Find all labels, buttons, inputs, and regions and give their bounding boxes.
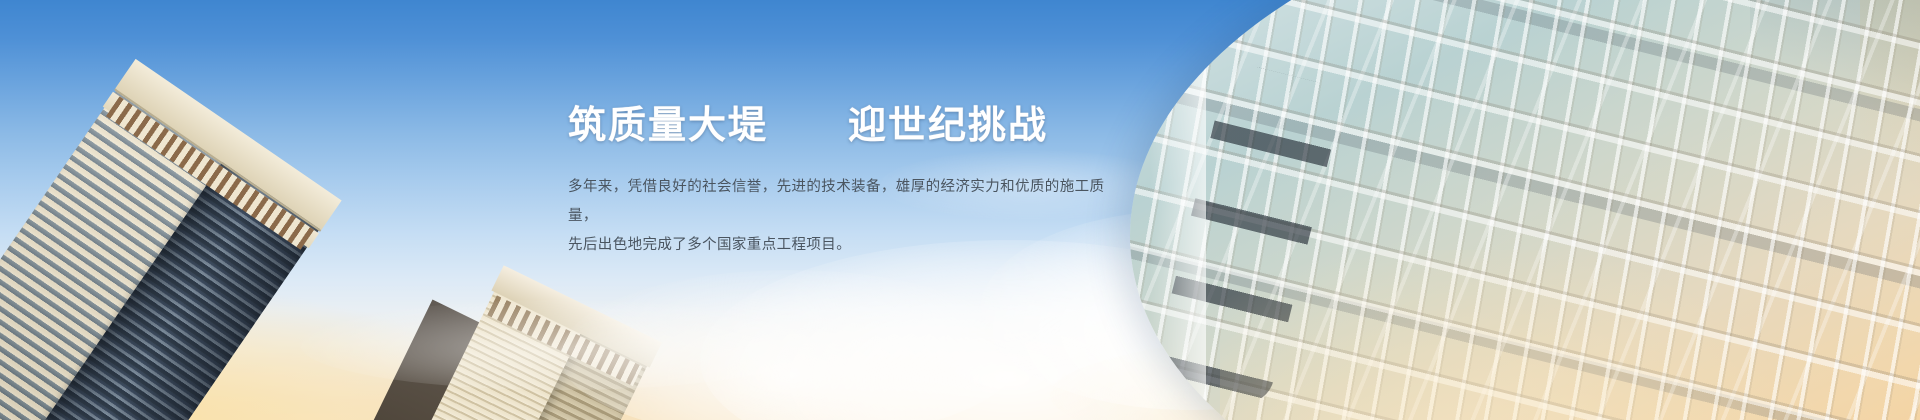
right-building-left-edge-highlight <box>1150 0 1206 420</box>
right-building-sun-glow <box>1220 250 1840 420</box>
banner-subtitle-line-1: 多年来，凭借良好的社会信誉，先进的技术装备，雄厚的经济实力和优质的施工质量， <box>568 173 1108 231</box>
hero-banner: 筑质量大堤 迎世纪挑战 多年来，凭借良好的社会信誉，先进的技术装备，雄厚的经济实… <box>0 0 1920 420</box>
banner-copy-block: 筑质量大堤 迎世纪挑战 多年来，凭借良好的社会信誉，先进的技术装备，雄厚的经济实… <box>568 104 1108 260</box>
right-building-facade <box>1130 0 1920 420</box>
banner-subtitle-line-2: 先后出色地完成了多个国家重点工程项目。 <box>568 231 1108 260</box>
right-curved-glass-building <box>1060 0 1920 420</box>
banner-subtitle: 多年来，凭借良好的社会信誉，先进的技术装备，雄厚的经济实力和优质的施工质量， 先… <box>568 173 1108 260</box>
banner-headline: 筑质量大堤 迎世纪挑战 <box>568 104 1108 149</box>
